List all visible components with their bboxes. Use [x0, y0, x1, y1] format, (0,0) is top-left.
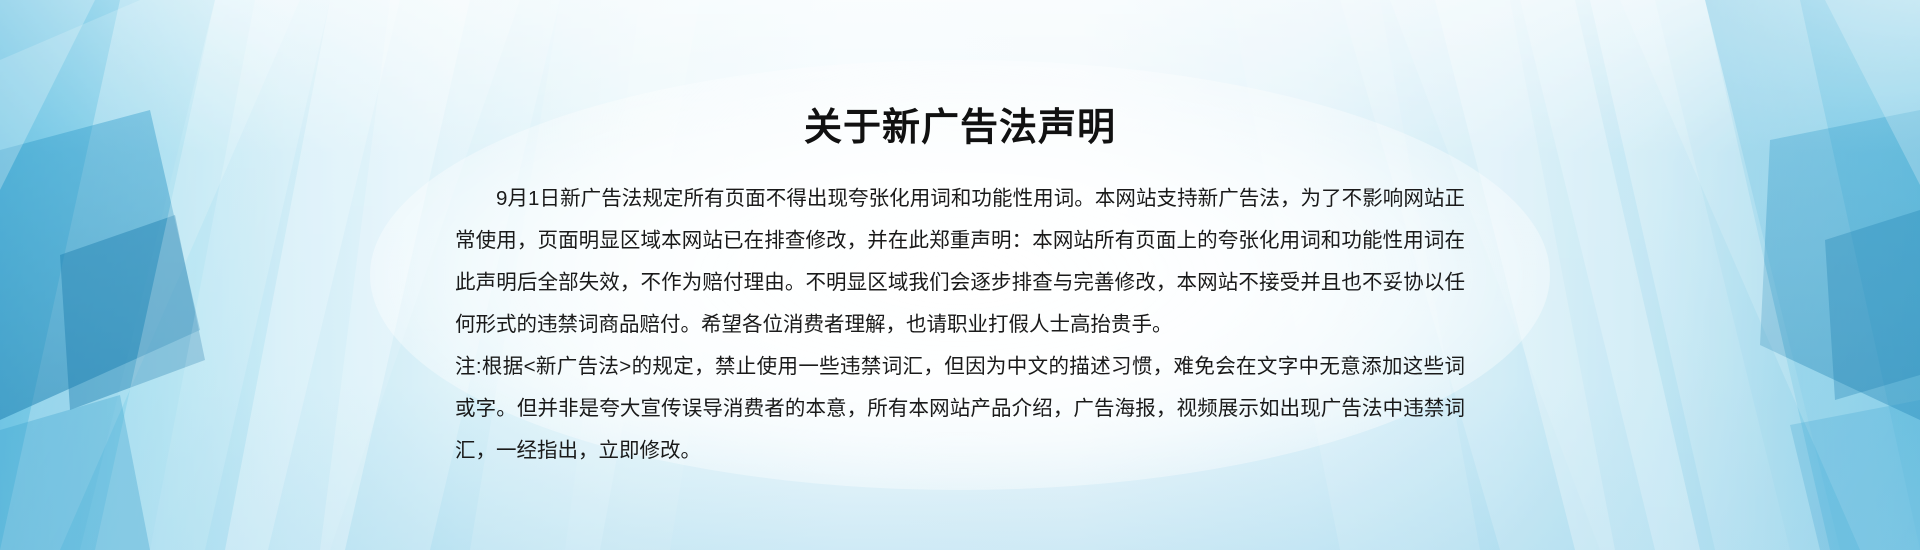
statement-paragraph-2: 注:根据<新广告法>的规定，禁止使用一些违禁词汇，但因为中文的描述习惯，难免会在…: [455, 346, 1465, 472]
page-title: 关于新广告法声明: [0, 96, 1920, 151]
advertising-law-statement-banner: 关于新广告法声明 9月1日新广告法规定所有页面不得出现夸张化用词和功能性用词。本…: [0, 0, 1920, 550]
statement-body: 9月1日新广告法规定所有页面不得出现夸张化用词和功能性用词。本网站支持新广告法，…: [455, 178, 1465, 472]
statement-content: 关于新广告法声明 9月1日新广告法规定所有页面不得出现夸张化用词和功能性用词。本…: [0, 0, 1920, 550]
statement-paragraph-1: 9月1日新广告法规定所有页面不得出现夸张化用词和功能性用词。本网站支持新广告法，…: [455, 178, 1465, 346]
